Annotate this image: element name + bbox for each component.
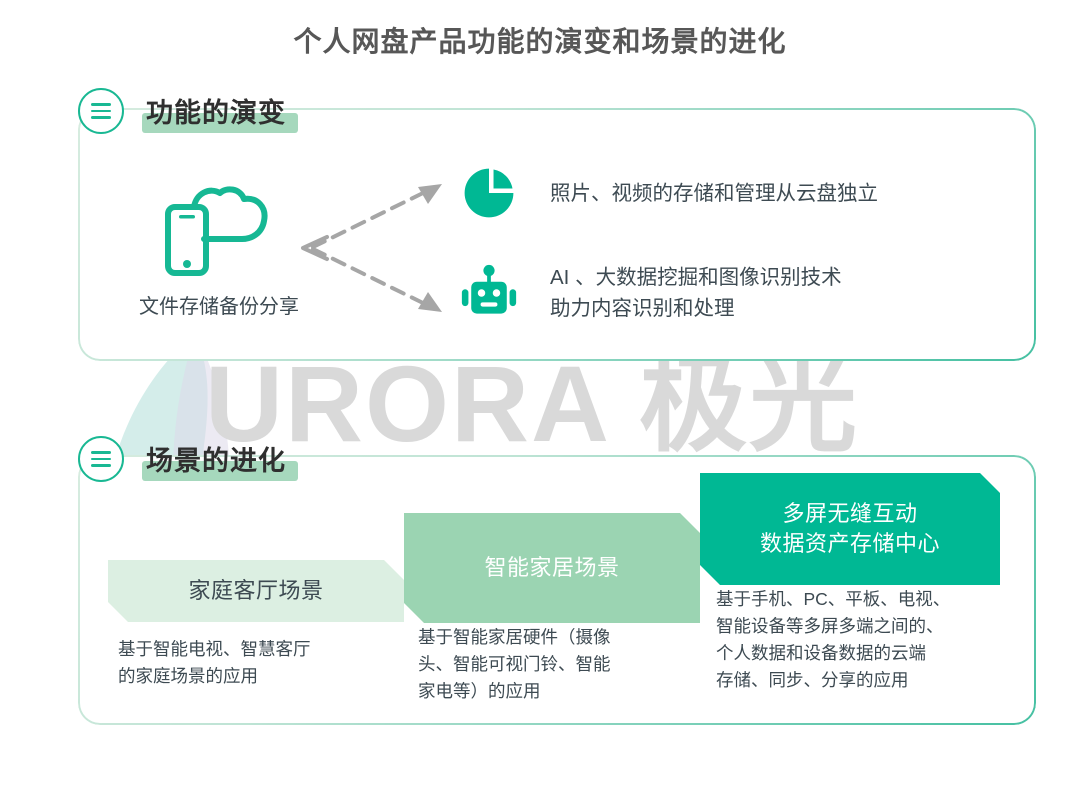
- phone-cloud-icon: [160, 185, 272, 277]
- section-header-functions: 功能的演变: [78, 88, 298, 134]
- feature-text: AI 、大数据挖掘和图像识别技术 助力内容识别和处理: [550, 262, 842, 324]
- hamburger-circle-icon: [78, 436, 124, 482]
- section-title-functions: 功能的演变: [146, 91, 286, 130]
- pie-chart-icon: [458, 162, 520, 224]
- dashed-branch-arrows-icon: [295, 175, 470, 320]
- scenario-step-title: 多屏无缝互动 数据资产存储中心: [760, 499, 940, 559]
- scenario-step-title: 家庭客厅场景: [188, 576, 323, 606]
- watermark-brand: URORA 极光: [205, 350, 859, 458]
- scenario-step-title: 智能家居场景: [484, 553, 619, 583]
- feature-item: 照片、视频的存储和管理从云盘独立: [458, 162, 878, 224]
- scenario-step-bar: 家庭客厅场景: [108, 560, 404, 622]
- feature-item: AI 、大数据挖掘和图像识别技术 助力内容识别和处理: [458, 262, 842, 324]
- scenario-step-desc: 基于智能电视、智慧客厅 的家庭场景的应用: [118, 636, 398, 690]
- hamburger-circle-icon: [78, 88, 124, 134]
- section-title-highlight: 场景的进化: [142, 437, 298, 482]
- scenario-step-desc: 基于智能家居硬件（摄像 头、智能可视门铃、智能 家电等）的应用: [418, 624, 708, 705]
- scenario-step-bar: 智能家居场景: [404, 513, 700, 623]
- section-header-scenarios: 场景的进化: [78, 436, 298, 482]
- page-title: 个人网盘产品功能的演变和场景的进化: [0, 20, 1080, 60]
- section-title-scenarios: 场景的进化: [146, 439, 286, 478]
- robot-icon: [458, 262, 520, 324]
- section-title-highlight: 功能的演变: [142, 89, 298, 134]
- feature-text: 照片、视频的存储和管理从云盘独立: [550, 178, 878, 209]
- scenario-step-bar: 多屏无缝互动 数据资产存储中心: [700, 473, 1000, 585]
- scenario-step-desc: 基于手机、PC、平板、电视、 智能设备等多屏多端之间的、 个人数据和设备数据的云…: [716, 586, 1016, 694]
- scenario-steps: 家庭客厅场景 基于智能电视、智慧客厅 的家庭场景的应用 智能家居场景 基于智能家…: [78, 455, 1036, 725]
